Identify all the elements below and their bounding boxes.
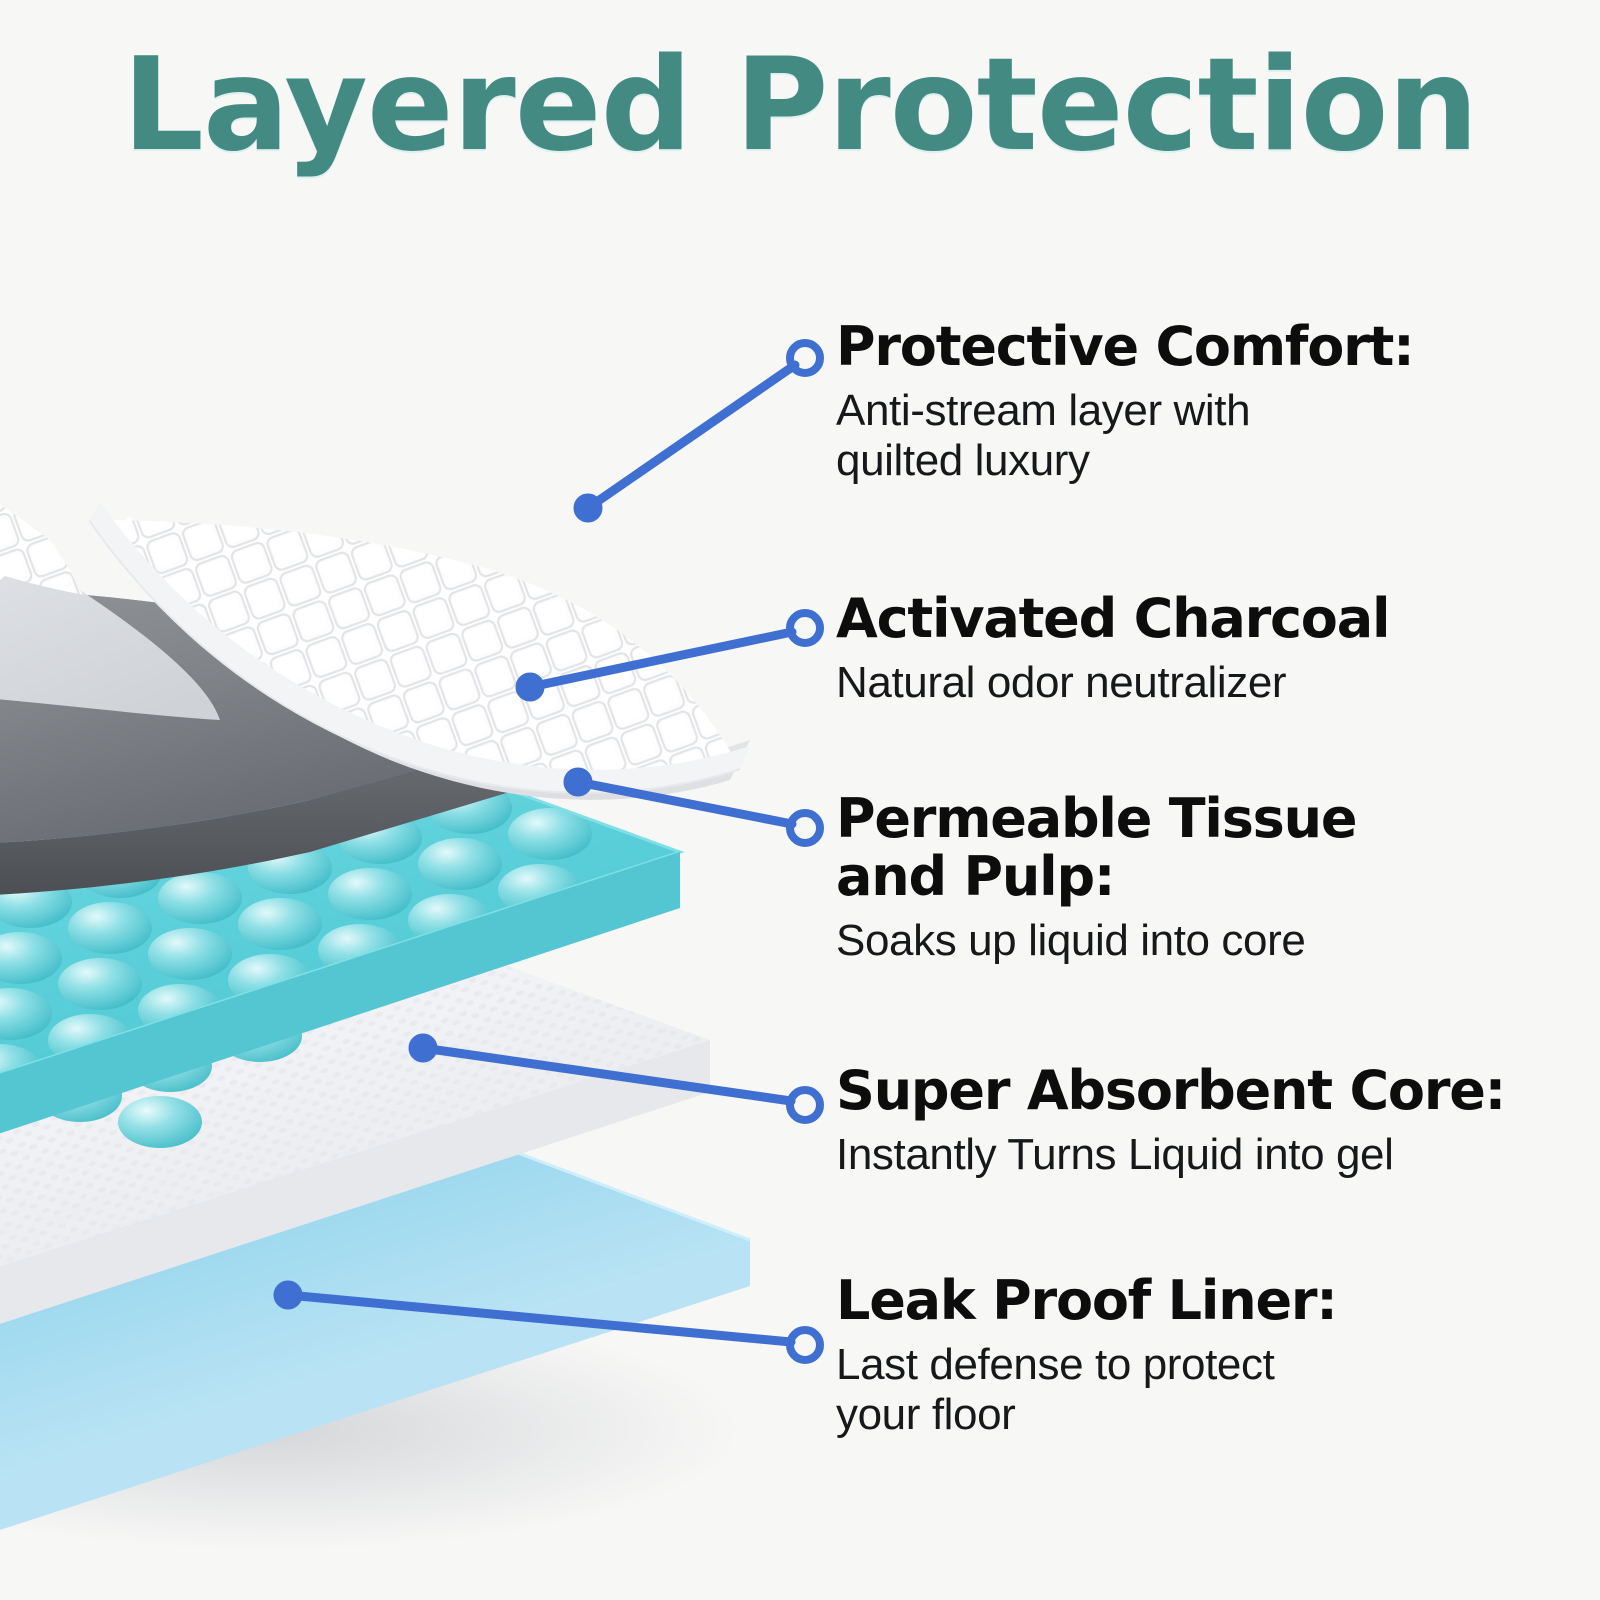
callout-heading: Protective Comfort:: [836, 318, 1600, 376]
callout-heading: Activated Charcoal: [836, 590, 1600, 648]
callout-protective-comfort: Protective Comfort: Anti-stream layer wi…: [836, 318, 1600, 486]
callout-permeable-tissue-and-pulp: Permeable Tissue and Pulp: Soaks up liqu…: [836, 790, 1600, 966]
callout-heading: Leak Proof Liner:: [836, 1272, 1600, 1330]
infographic-canvas: Layered Protection: [0, 0, 1600, 1600]
callout-description: Anti-stream layer with quilted luxury: [836, 386, 1600, 486]
callout-description: Last defense to protect your floor: [836, 1340, 1600, 1440]
callout-heading: Permeable Tissue and Pulp:: [836, 790, 1600, 906]
callout-heading: Super Absorbent Core:: [836, 1062, 1600, 1120]
callout-activated-charcoal: Activated Charcoal Natural odor neutrali…: [836, 590, 1600, 708]
callout-description: Instantly Turns Liquid into gel: [836, 1130, 1600, 1180]
callout-list: Protective Comfort: Anti-stream layer wi…: [836, 0, 1600, 1600]
layered-pad-illustration: [0, 240, 810, 1580]
callout-super-absorbent-core: Super Absorbent Core: Instantly Turns Li…: [836, 1062, 1600, 1180]
callout-description: Soaks up liquid into core: [836, 916, 1600, 966]
callout-description: Natural odor neutralizer: [836, 658, 1600, 708]
callout-leak-proof-liner: Leak Proof Liner: Last defense to protec…: [836, 1272, 1600, 1440]
